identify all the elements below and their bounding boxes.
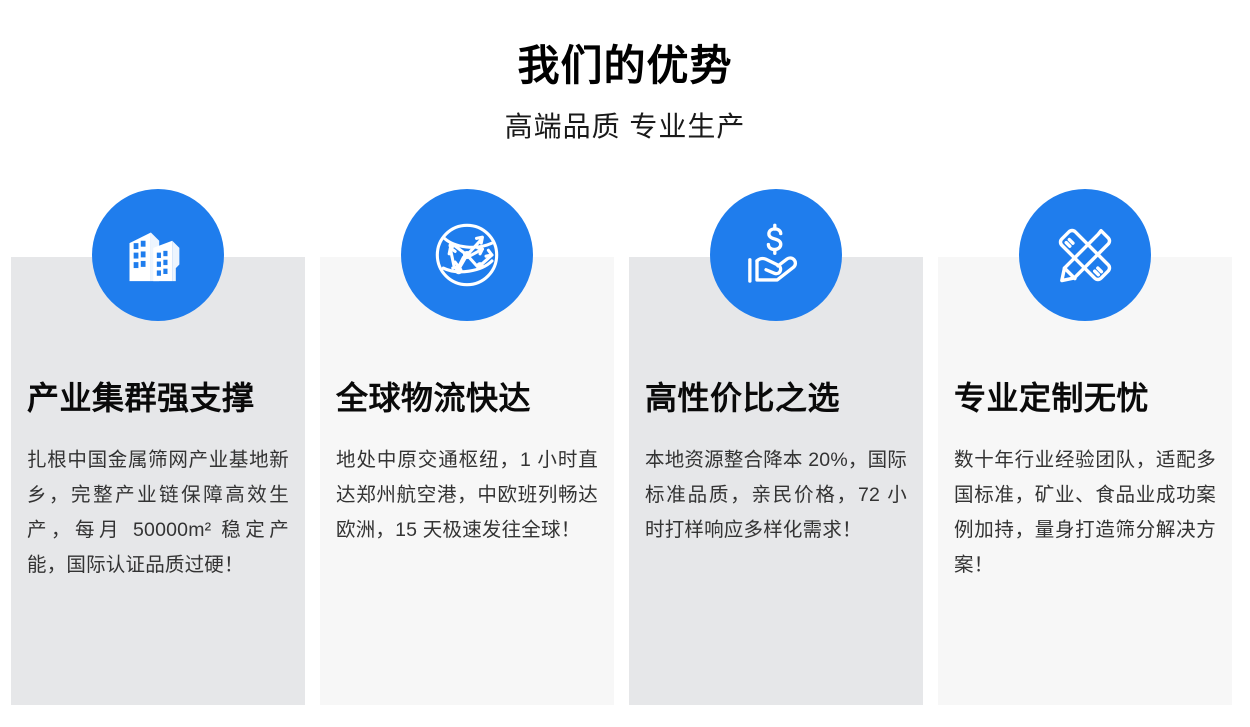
advantage-card[interactable]: 全球物流快达 地处中原交通枢纽，1 小时直达郑州航空港，中欧班列畅达欧洲，15 … bbox=[320, 257, 614, 705]
card-body: 本地资源整合降本 20%，国际标准品质，亲民价格，72 小时打样响应多样化需求！ bbox=[645, 417, 907, 548]
pencil-ruler-icon bbox=[1047, 217, 1123, 293]
advantage-card-list: 产业集群强支撑 扎根中国金属筛网产业基地新乡，完整产业链保障高效生产，每月 50… bbox=[11, 257, 1239, 705]
advantage-card[interactable]: 专业定制无忧 数十年行业经验团队，适配多国标准，矿业、食品业成功案例加持，量身打… bbox=[938, 257, 1232, 705]
global-network-icon bbox=[429, 217, 505, 293]
icon-badge bbox=[1019, 189, 1151, 321]
icon-badge bbox=[92, 189, 224, 321]
page-title: 我们的优势 bbox=[0, 0, 1250, 90]
advantage-card[interactable]: 产业集群强支撑 扎根中国金属筛网产业基地新乡，完整产业链保障高效生产，每月 50… bbox=[11, 257, 305, 705]
card-body: 地处中原交通枢纽，1 小时直达郑州航空港，中欧班列畅达欧洲，15 天极速发往全球… bbox=[336, 417, 598, 548]
buildings-icon bbox=[120, 217, 196, 293]
section-header: 我们的优势 高端品质 专业生产 bbox=[0, 0, 1250, 144]
page-subtitle: 高端品质 专业生产 bbox=[0, 90, 1250, 144]
hand-holding-dollar-icon bbox=[738, 217, 814, 293]
icon-badge bbox=[401, 189, 533, 321]
advantage-card[interactable]: 高性价比之选 本地资源整合降本 20%，国际标准品质，亲民价格，72 小时打样响… bbox=[629, 257, 923, 705]
icon-badge bbox=[710, 189, 842, 321]
card-body: 扎根中国金属筛网产业基地新乡，完整产业链保障高效生产，每月 50000m² 稳定… bbox=[27, 417, 289, 583]
card-body: 数十年行业经验团队，适配多国标准，矿业、食品业成功案例加持，量身打造筛分解决方案… bbox=[954, 417, 1216, 583]
